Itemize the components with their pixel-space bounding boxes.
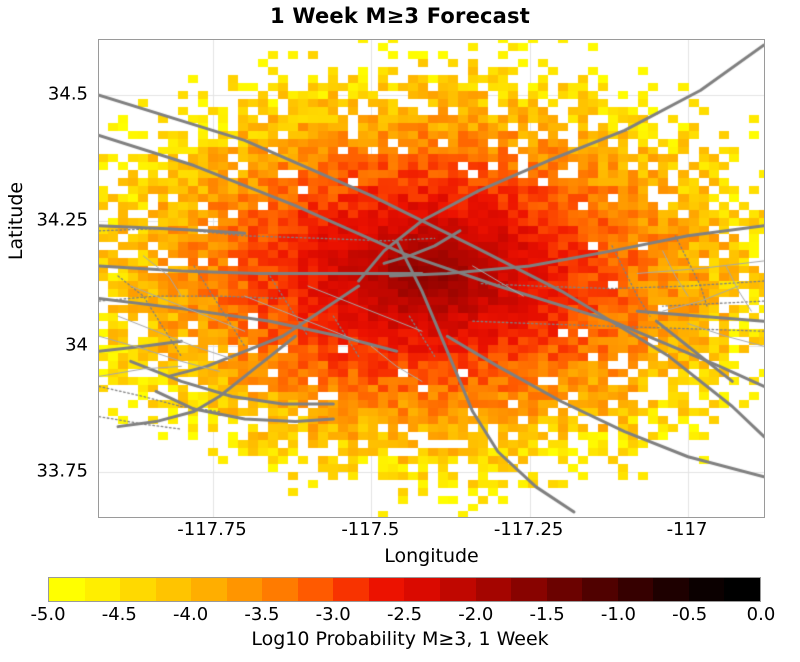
colorbar-segment: [49, 578, 85, 601]
colorbar-label: Log10 Probability M≥3, 1 Week: [0, 628, 800, 650]
colorbar-segment: [404, 578, 440, 601]
x-tick-label: -117.5: [300, 519, 440, 540]
colorbar-segment: [440, 578, 476, 601]
colorbar-segment: [156, 578, 192, 601]
y-tick-label: 34.5: [0, 84, 88, 105]
x-tick-label: -117.25: [459, 519, 599, 540]
colorbar-segment: [476, 578, 512, 601]
colorbar-segment: [120, 578, 156, 601]
figure-title: 1 Week M≥3 Forecast: [0, 4, 800, 28]
y-tick-label: 34: [0, 335, 88, 356]
x-tick-label: -117.75: [142, 519, 282, 540]
colorbar-segment: [724, 578, 760, 601]
colorbar-segment: [262, 578, 298, 601]
y-axis-label: Latitude: [5, 121, 27, 321]
colorbar-segment: [369, 578, 405, 601]
x-tick-label: -117: [617, 519, 757, 540]
colorbar-segment: [298, 578, 334, 601]
colorbar[interactable]: [48, 577, 761, 602]
x-axis-label: Longitude: [98, 545, 765, 567]
colorbar-segment: [191, 578, 227, 601]
colorbar-segment: [582, 578, 618, 601]
colorbar-segment: [689, 578, 725, 601]
figure-root: 1 Week M≥3 Forecast 33.753434.2534.5 -11…: [0, 0, 800, 662]
colorbar-gradient[interactable]: [48, 577, 761, 602]
colorbar-segment: [227, 578, 263, 601]
colorbar-segment: [333, 578, 369, 601]
map-plot-area[interactable]: [98, 39, 765, 518]
colorbar-tick-label: 0.0: [701, 604, 800, 625]
colorbar-segment: [618, 578, 654, 601]
heatmap-canvas[interactable]: [99, 40, 764, 517]
colorbar-segment: [85, 578, 121, 601]
y-tick-label: 33.75: [0, 460, 88, 481]
colorbar-segment: [547, 578, 583, 601]
colorbar-segment: [653, 578, 689, 601]
colorbar-segment: [511, 578, 547, 601]
